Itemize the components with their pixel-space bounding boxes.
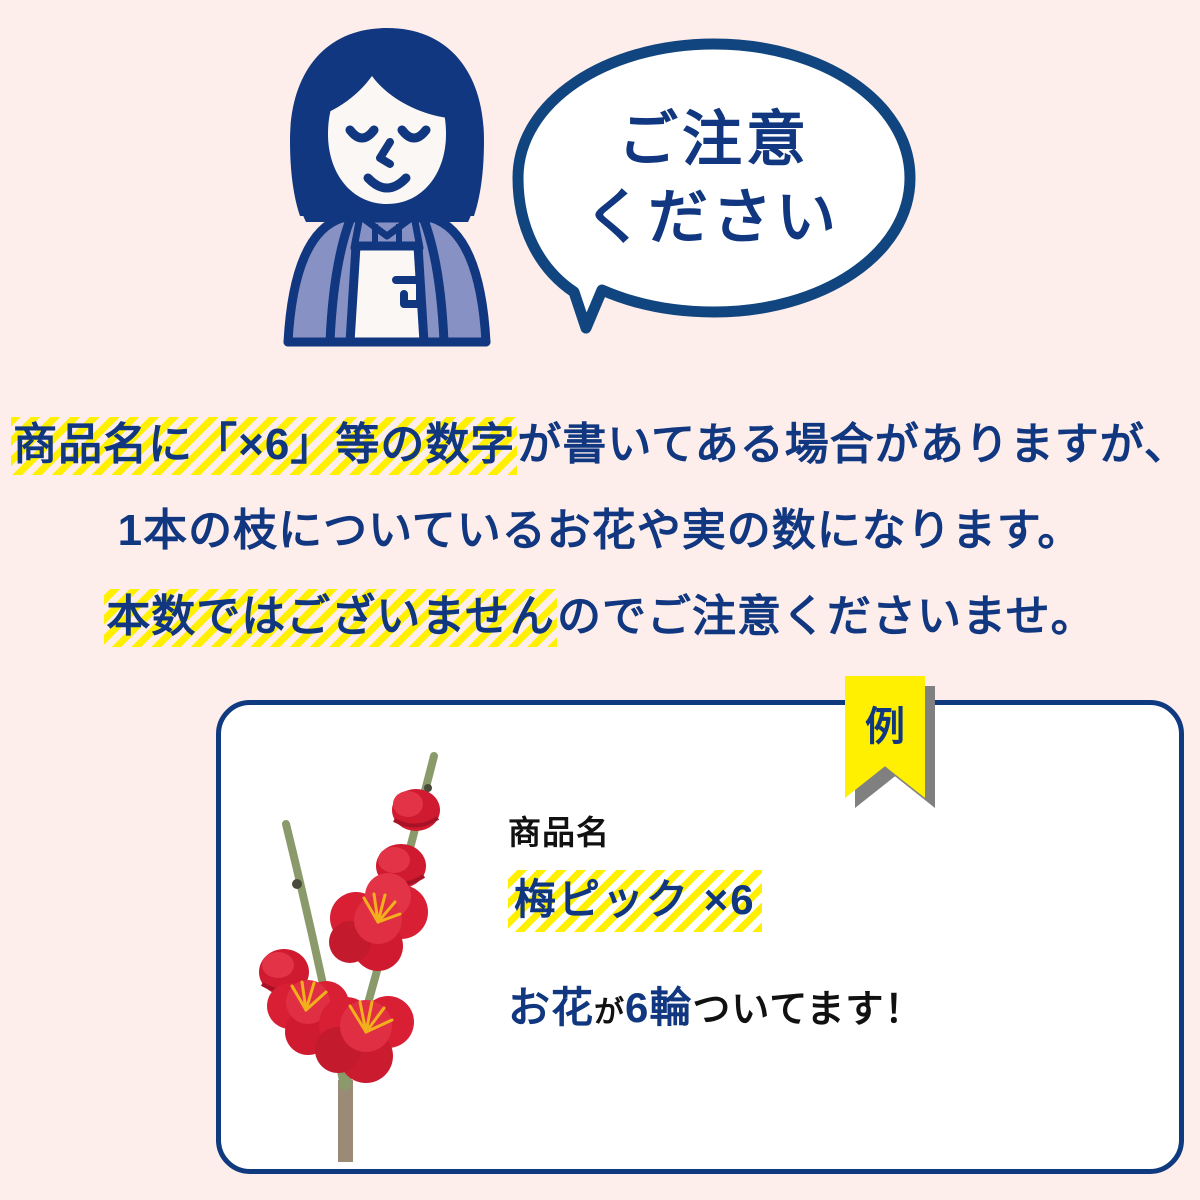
product-name-label: 商品名	[508, 806, 1028, 854]
flower-word: お花	[508, 984, 594, 1031]
shop-clerk-illustration	[272, 22, 502, 372]
product-name-value: 梅ピック ×6	[508, 870, 762, 932]
flower-bud-top	[392, 789, 440, 831]
count-line-tail: ついてます！	[692, 989, 923, 1031]
notice-body-copy: 商品名に「×6」等の数字が書いてある場合がありますが、 1本の枝についているお花…	[0, 402, 1200, 660]
flower-count-line: お花が6輪ついてます！	[508, 974, 1028, 1035]
example-ribbon-badge: 例	[845, 676, 935, 808]
notice-line-2: 1本の枝についているお花や実の数になります。	[0, 488, 1200, 574]
notice-line-1-rest: が書いてある場合がありますが、	[517, 420, 1188, 469]
product-name-row: 梅ピック ×6	[508, 870, 1028, 932]
header-section: ご注意 ください	[0, 0, 1200, 390]
plum-blossom-pick-image	[238, 736, 508, 1166]
notice-line-2-text: 1本の枝についているお花や実の数になります。	[118, 506, 1083, 555]
notice-line-3-highlight: 本数ではございません	[104, 589, 557, 647]
flower-count-number: 6	[625, 984, 649, 1031]
notice-line-1: 商品名に「×6」等の数字が書いてある場合がありますが、	[0, 402, 1200, 488]
notice-line-1-highlight: 商品名に「×6」等の数字	[11, 417, 517, 475]
flower-counter-word: 輪	[649, 984, 692, 1031]
ribbon-label: 例	[845, 694, 925, 752]
flower-open-lower-center	[315, 996, 414, 1083]
speech-bubble	[508, 34, 920, 354]
particle-ga: が	[594, 996, 625, 1029]
notice-line-3: 本数ではございませんのでご注意くださいませ。	[0, 574, 1200, 660]
flower-open-upper	[329, 873, 428, 971]
example-card-text: 商品名 梅ピック ×6 お花が6輪ついてます！	[508, 806, 1028, 1035]
notice-line-3-rest: のでご注意くださいませ。	[557, 592, 1096, 641]
